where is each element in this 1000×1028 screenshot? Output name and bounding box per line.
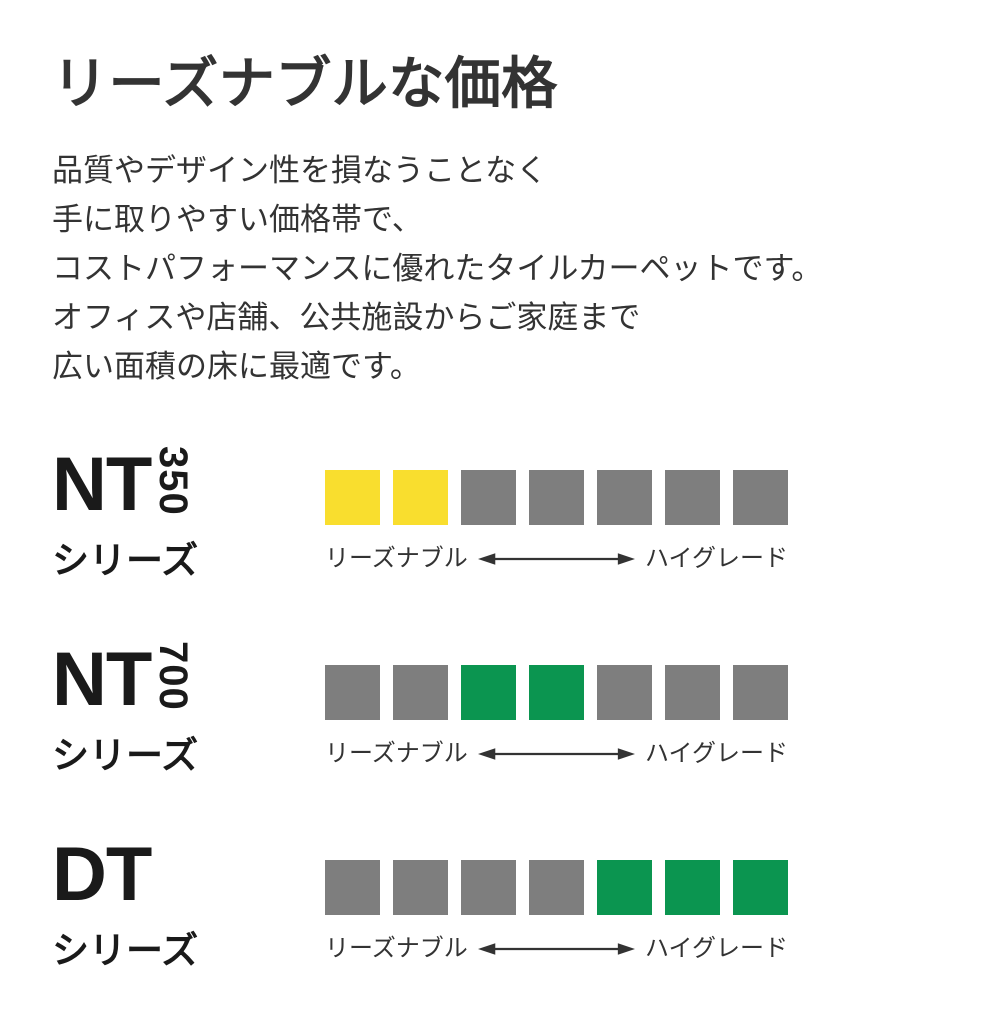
series-code: DT (52, 838, 151, 912)
scale-caption: リーズナブル ハイグレード (325, 547, 788, 571)
scale-square (529, 665, 584, 720)
series-code: NT (52, 448, 151, 522)
body-line: 手に取りやすい価格帯で、 (52, 195, 952, 244)
series-label: NT 700 シリーズ (52, 643, 282, 774)
series-suffix: シリーズ (52, 737, 282, 774)
series-name-line: NT 700 (52, 643, 282, 719)
series-suffix: シリーズ (52, 932, 282, 969)
scale-high-label: ハイグレード (645, 937, 788, 961)
body-line: 広い面積の床に最適です。 (52, 342, 952, 391)
header-block: リーズナブルな価格 品質やデザイン性を損なうことなく 手に取りやすい価格帯で、 … (52, 56, 952, 391)
scale-square (665, 860, 720, 915)
scale-square (529, 860, 584, 915)
body-line: コストパフォーマンスに優れたタイルカーペットです。 (52, 244, 952, 293)
body-line: 品質やデザイン性を損なうことなく (52, 146, 952, 195)
scale-squares (325, 860, 788, 915)
scale-low-label: リーズナブル (325, 547, 468, 571)
scale-square (665, 470, 720, 525)
double-headed-arrow-icon (478, 939, 635, 959)
scale-square (733, 860, 788, 915)
scale-square (393, 860, 448, 915)
series-label: DT シリーズ (52, 838, 282, 969)
scale-square (393, 470, 448, 525)
body-copy: 品質やデザイン性を損なうことなく 手に取りやすい価格帯で、 コストパフォーマンス… (52, 146, 952, 391)
series-row-nt700: NT 700 シリーズ リーズナブル ハイグレード (0, 643, 1000, 833)
series-number: 350 (153, 446, 193, 516)
scale-square (733, 665, 788, 720)
scale-low-label: リーズナブル (325, 742, 468, 766)
scale-square (597, 470, 652, 525)
scale-square (461, 860, 516, 915)
scale-square (325, 470, 380, 525)
scale-high-label: ハイグレード (645, 547, 788, 571)
scale-square (529, 470, 584, 525)
scale-square (393, 665, 448, 720)
series-number: 700 (153, 641, 193, 711)
series-name-line: NT 350 (52, 448, 282, 524)
scale-square (597, 860, 652, 915)
page-title: リーズナブルな価格 (52, 56, 952, 112)
scale-squares (325, 665, 788, 720)
scale-low-label: リーズナブル (325, 937, 468, 961)
scale-square (325, 665, 380, 720)
grade-scale: リーズナブル ハイグレード (325, 470, 788, 571)
scale-caption: リーズナブル ハイグレード (325, 742, 788, 766)
series-name-line: DT (52, 838, 282, 914)
scale-high-label: ハイグレード (645, 742, 788, 766)
series-code: NT (52, 643, 151, 717)
double-headed-arrow-icon (478, 744, 635, 764)
scale-caption: リーズナブル ハイグレード (325, 937, 788, 961)
series-row-nt350: NT 350 シリーズ リーズナブル ハイグレード (0, 448, 1000, 638)
series-suffix: シリーズ (52, 542, 282, 579)
series-label: NT 350 シリーズ (52, 448, 282, 579)
scale-square (325, 860, 380, 915)
scale-squares (325, 470, 788, 525)
body-line: オフィスや店舗、公共施設からご家庭まで (52, 293, 952, 342)
scale-square (665, 665, 720, 720)
grade-scale: リーズナブル ハイグレード (325, 665, 788, 766)
scale-square (461, 470, 516, 525)
scale-square (733, 470, 788, 525)
scale-square (597, 665, 652, 720)
grade-scale: リーズナブル ハイグレード (325, 860, 788, 961)
double-headed-arrow-icon (478, 549, 635, 569)
scale-square (461, 665, 516, 720)
